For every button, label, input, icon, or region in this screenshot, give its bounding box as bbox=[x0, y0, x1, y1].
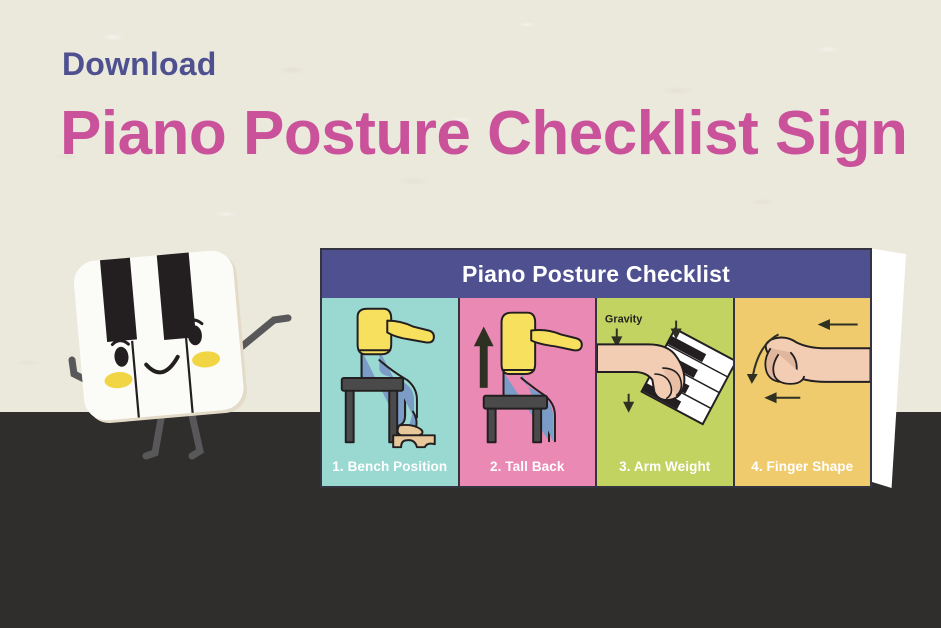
mascot-illustration bbox=[52, 248, 312, 468]
checklist-panels: 1. Bench Position bbox=[322, 298, 870, 486]
sign-front-face: Piano Posture Checklist bbox=[320, 248, 872, 488]
mascot-body bbox=[72, 249, 249, 426]
mascot-legs bbox=[146, 413, 200, 456]
panel-finger-shape[interactable]: 4. Finger Shape bbox=[735, 298, 871, 486]
panel-arm-weight[interactable]: Gravity bbox=[597, 298, 733, 486]
finger-shape-illustration bbox=[735, 298, 871, 450]
page-title: Piano Posture Checklist Sign bbox=[60, 98, 907, 169]
up-arrow-icon bbox=[473, 327, 493, 388]
panel-bench-position[interactable]: 1. Bench Position bbox=[322, 298, 458, 486]
panel-tall-back[interactable]: 2. Tall Back bbox=[460, 298, 596, 486]
sign-header: Piano Posture Checklist bbox=[322, 250, 870, 298]
arm-weight-illustration: Gravity bbox=[597, 298, 733, 450]
sign-header-title: Piano Posture Checklist bbox=[462, 261, 730, 288]
tall-back-illustration bbox=[460, 298, 596, 450]
checklist-sign: Piano Posture Checklist bbox=[320, 248, 892, 490]
gravity-annotation-label: Gravity bbox=[605, 314, 642, 326]
bench-position-illustration bbox=[322, 298, 458, 450]
mascot-right-arm bbox=[240, 318, 288, 348]
panel-label-bench-position: 1. Bench Position bbox=[322, 459, 458, 474]
panel-label-tall-back: 2. Tall Back bbox=[460, 459, 596, 474]
kicker-text: Download bbox=[62, 46, 216, 83]
panel-label-arm-weight: 3. Arm Weight bbox=[597, 459, 733, 474]
poster-stage: Download Piano Posture Checklist Sign bbox=[0, 0, 941, 628]
panel-label-finger-shape: 4. Finger Shape bbox=[735, 459, 871, 474]
piano-keys-mascot bbox=[52, 248, 312, 468]
